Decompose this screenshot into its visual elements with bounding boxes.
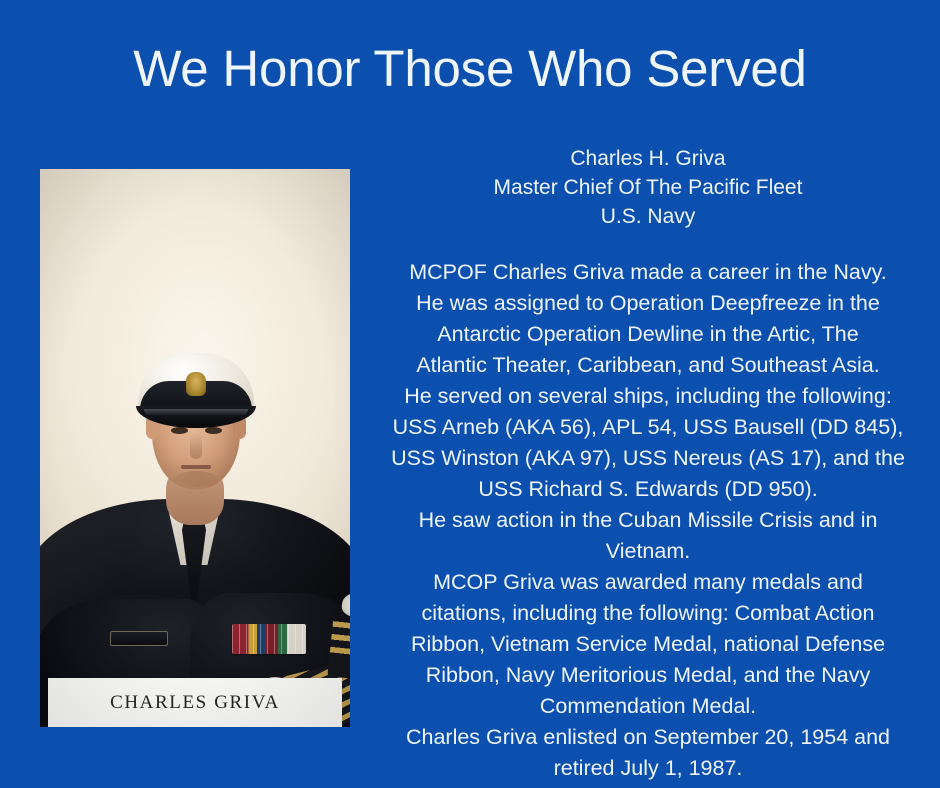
photo-nameplate: CHARLES GRIVA [48, 678, 342, 727]
biography-line: He was assigned to Operation Deepfreeze … [372, 288, 924, 319]
biography-line: Ribbon, Vietnam Service Medal, national … [372, 629, 924, 660]
biography-line: Antarctic Operation Dewline in the Artic… [372, 319, 924, 350]
biography-line: Vietnam. [372, 536, 924, 567]
biography-line: Charles Griva enlisted on September 20, … [372, 722, 924, 753]
biography-line: USS Winston (AKA 97), USS Nereus (AS 17)… [372, 443, 924, 474]
cap-visor-highlight [144, 409, 248, 416]
chin-shadow [174, 471, 218, 487]
text-column: Charles H. Griva Master Chief Of The Pac… [372, 144, 924, 784]
identity-block: Charles H. Griva Master Chief Of The Pac… [372, 144, 924, 231]
ribbon-rack [232, 624, 306, 654]
eye-left [171, 427, 188, 434]
nose [190, 433, 202, 459]
biography-line: USS Richard S. Edwards (DD 950). [372, 474, 924, 505]
biography-block: MCPOF Charles Griva made a career in the… [372, 257, 924, 784]
biography-line: citations, including the following: Comb… [372, 598, 924, 629]
biography-line: Atlantic Theater, Caribbean, and Southea… [372, 350, 924, 381]
veteran-branch: U.S. Navy [372, 202, 924, 231]
veteran-rank: Master Chief Of The Pacific Fleet [372, 173, 924, 202]
eye-right [205, 427, 222, 434]
fouled-anchor-cap-device-icon [186, 372, 206, 396]
page-title: We Honor Those Who Served [0, 41, 940, 97]
mouth [181, 465, 211, 469]
biography-line: retired July 1, 1987. [372, 753, 924, 784]
biography-line: He served on several ships, including th… [372, 381, 924, 412]
memorial-poster: We Honor Those Who Served [0, 0, 940, 788]
biography-line: MCOP Griva was awarded many medals and [372, 567, 924, 598]
biography-line: Ribbon, Navy Meritorious Medal, and the … [372, 660, 924, 691]
photo-nameplate-label: CHARLES GRIVA [48, 678, 342, 727]
biography-line: Commendation Medal. [372, 691, 924, 722]
portrait-photo: CHARLES GRIVA [40, 169, 350, 727]
biography-line: MCPOF Charles Griva made a career in the… [372, 257, 924, 288]
biography-line: He saw action in the Cuban Missile Crisi… [372, 505, 924, 536]
biography-line: USS Arneb (AKA 56), APL 54, USS Bausell … [372, 412, 924, 443]
uniform-name-tag [110, 631, 168, 646]
veteran-name: Charles H. Griva [372, 144, 924, 173]
